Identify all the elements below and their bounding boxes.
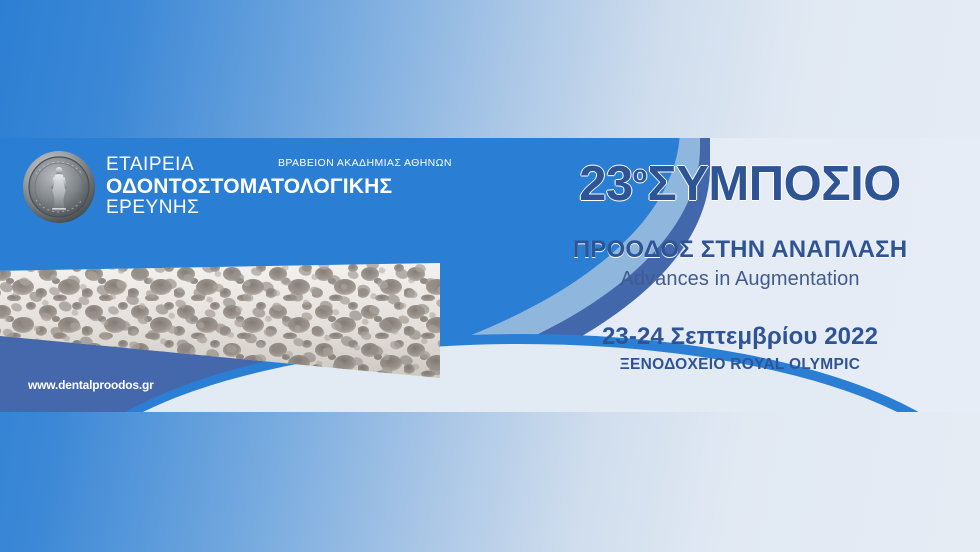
society-logo: ΕΤΑΙΡΕΙΑ ΟΔΟΝΤΟΣΤΟΜΑΤΟΛΟΓΙΚΗΣ ΕΡΕΥΝΗΣ ΒΡ…: [22, 150, 392, 224]
website-url[interactable]: www.dentalproodos.gr: [28, 378, 154, 392]
academy-award-label: ΒΡΑΒΕΙΟΝ ΑΚΑΔΗΜΙΑΣ ΑΘΗΝΩΝ: [278, 157, 452, 169]
event-word: ΣΥΜΠΟΣΙΟ: [647, 157, 901, 211]
academy-medal-icon: [22, 150, 96, 224]
symposium-banner: ΕΤΑΙΡΕΙΑ ΟΔΟΝΤΟΣΤΟΜΑΤΟΛΟΓΙΚΗΣ ΕΡΕΥΝΗΣ ΒΡ…: [0, 138, 980, 412]
event-title: 23οΣΥΜΠΟΣΙΟ: [530, 160, 950, 209]
event-subtitle-english: Advances in Augmentation: [530, 268, 950, 291]
event-number: 23: [579, 157, 633, 211]
event-venue: ΞΕΝΟΔΟΧΕΙΟ ROYAL OLYMPIC: [530, 356, 950, 374]
page-background: ΕΤΑΙΡΕΙΑ ΟΔΟΝΤΟΣΤΟΜΑΤΟΛΟΓΙΚΗΣ ΕΡΕΥΝΗΣ ΒΡ…: [0, 0, 980, 552]
event-subtitle-greek: ΠΡΟΟΔΟΣ ΣΤΗΝ ΑΝΑΠΛΑΣΗ: [530, 237, 950, 263]
event-details: 23οΣΥΜΠΟΣΙΟ ΠΡΟΟΔΟΣ ΣΤΗΝ ΑΝΑΠΛΑΣΗ Advanc…: [530, 160, 950, 374]
event-ordinal: ο: [633, 162, 648, 189]
society-name-line2: ΟΔΟΝΤΟΣΤΟΜΑΤΟΛΟΓΙΚΗΣ: [106, 175, 392, 199]
society-logo-text: ΕΤΑΙΡΕΙΑ ΟΔΟΝΤΟΣΤΟΜΑΤΟΛΟΓΙΚΗΣ ΕΡΕΥΝΗΣ ΒΡ…: [106, 155, 392, 219]
society-name-line3: ΕΡΕΥΝΗΣ: [106, 198, 392, 219]
event-dates: 23-24 Σεπτεμβρίου 2022: [530, 323, 950, 351]
